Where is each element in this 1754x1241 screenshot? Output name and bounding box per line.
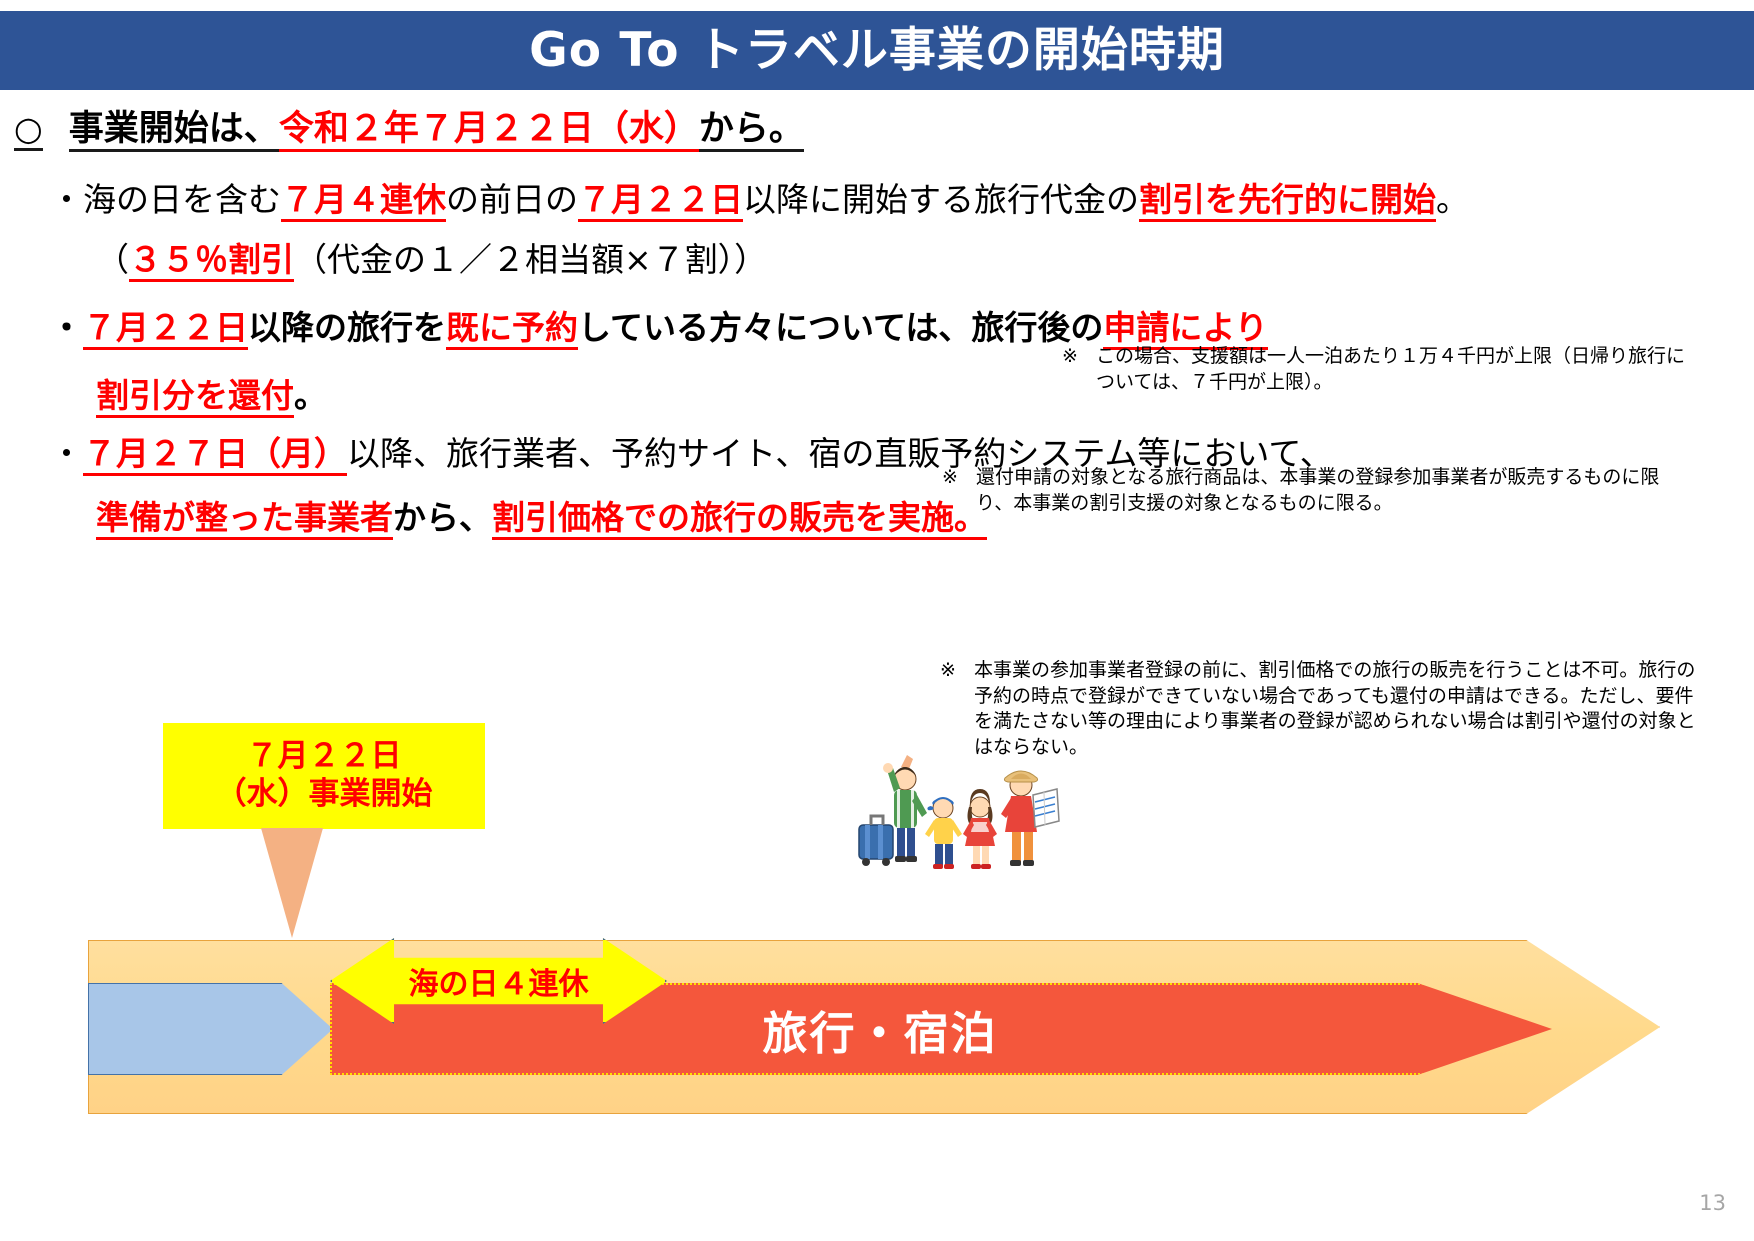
timeline-preparation-chevron xyxy=(88,983,333,1075)
page-title: Go To トラベル事業の開始時期 xyxy=(529,27,1225,74)
bullet-1-part3: 以降に開始する旅行代金の xyxy=(743,180,1139,219)
bullet-item-2-sub: 割引分を還付。 xyxy=(96,378,327,414)
slide-title-banner: Go To トラベル事業の開始時期 xyxy=(0,11,1754,90)
start-date-callout: ７月２２日 （水）事業開始 xyxy=(163,723,485,829)
bullet-1-highlight-3: 割引を先行的に開始 xyxy=(1139,180,1436,222)
bullet-3-highlight-3: 割引価格での旅行の販売を実施。 xyxy=(492,498,987,540)
bullet-3-part2: から、 xyxy=(393,498,492,537)
lead-statement: ○事業開始は、令和２年７月２２日（水）から。 xyxy=(14,110,804,149)
bullet-item-3-sub: 準備が整った事業者から、割引価格での旅行の販売を実施。 xyxy=(96,500,987,536)
holiday-double-arrow-label-wrap: 海の日４連休 xyxy=(330,938,667,1024)
callout-pointer-triangle-icon xyxy=(261,828,323,938)
bullet-2-part2: している方々については、旅行後の xyxy=(578,308,1103,347)
lead-highlight: 令和２年７月２２日（水） xyxy=(279,109,699,152)
footnote-2: ※還付申請の対象となる旅行商品は、本事業の登録参加事業者が販売するものに限り、本… xyxy=(942,465,1702,516)
footnote-1-text: この場合、支援額は一人一泊あたり１万４千円が上限（日帰り旅行については、７千円が… xyxy=(1096,344,1696,395)
bullet-1-part1: 海の日を含む xyxy=(83,180,281,219)
lead-text-after: から。 xyxy=(699,109,804,152)
bullet-2-highlight-1: ７月２２日 xyxy=(83,308,248,350)
timeline-travel-arrow-label: 旅行・宿泊 xyxy=(762,997,997,1062)
callout-line-2: （水）事業開始 xyxy=(216,776,433,814)
bullet-marker: ・ xyxy=(50,180,83,219)
bullet-marker: ・ xyxy=(50,434,83,473)
discount-rate-highlight: ３５％割引 xyxy=(129,240,294,282)
footnote-marker-icon: ※ xyxy=(1062,344,1096,370)
page-number: 13 xyxy=(1699,1191,1726,1215)
family-travelers-illustration xyxy=(845,745,1105,885)
bullet-1-highlight-2: ７月２２日 xyxy=(578,180,743,222)
refund-period: 。 xyxy=(294,376,327,415)
bullet-2-highlight-2: 既に予約 xyxy=(446,308,578,350)
bullet-1-highlight-1: ７月４連休 xyxy=(281,180,446,222)
lead-text-before: 事業開始は、 xyxy=(69,109,279,152)
footnote-marker-icon: ※ xyxy=(942,465,976,491)
discount-formula: （代金の１／２相当額×７割）） xyxy=(294,240,767,279)
footnote-1: ※この場合、支援額は一人一泊あたり１万４千円が上限（日帰り旅行については、７千円… xyxy=(1062,344,1702,395)
bullet-1-part4: 。 xyxy=(1436,180,1469,219)
discount-paren-open: （ xyxy=(96,240,129,279)
bullet-item-2: ・７月２２日以降の旅行を既に予約している方々については、旅行後の申請により xyxy=(50,310,1268,346)
holiday-double-arrow-label: 海の日４連休 xyxy=(409,959,589,1003)
bullet-marker: ・ xyxy=(50,308,83,347)
bullet-3-highlight-2: 準備が整った事業者 xyxy=(96,498,393,540)
refund-highlight: 割引分を還付 xyxy=(96,376,294,418)
bullet-item-1-sub: （３５％割引（代金の１／２相当額×７割）） xyxy=(96,242,767,278)
footnote-marker-icon: ※ xyxy=(940,658,974,684)
bullet-item-1: ・海の日を含む７月４連休の前日の７月２２日以降に開始する旅行代金の割引を先行的に… xyxy=(50,182,1469,218)
footnote-2-text: 還付申請の対象となる旅行商品は、本事業の登録参加事業者が販売するものに限り、本事… xyxy=(976,465,1694,516)
bullet-1-part2: の前日の xyxy=(446,180,578,219)
lead-marker: ○ xyxy=(14,109,43,151)
callout-line-1: ７月２２日 xyxy=(247,738,402,776)
bullet-2-part1: 以降の旅行を xyxy=(248,308,446,347)
bullet-3-highlight-1: ７月２７日（月） xyxy=(83,434,347,476)
